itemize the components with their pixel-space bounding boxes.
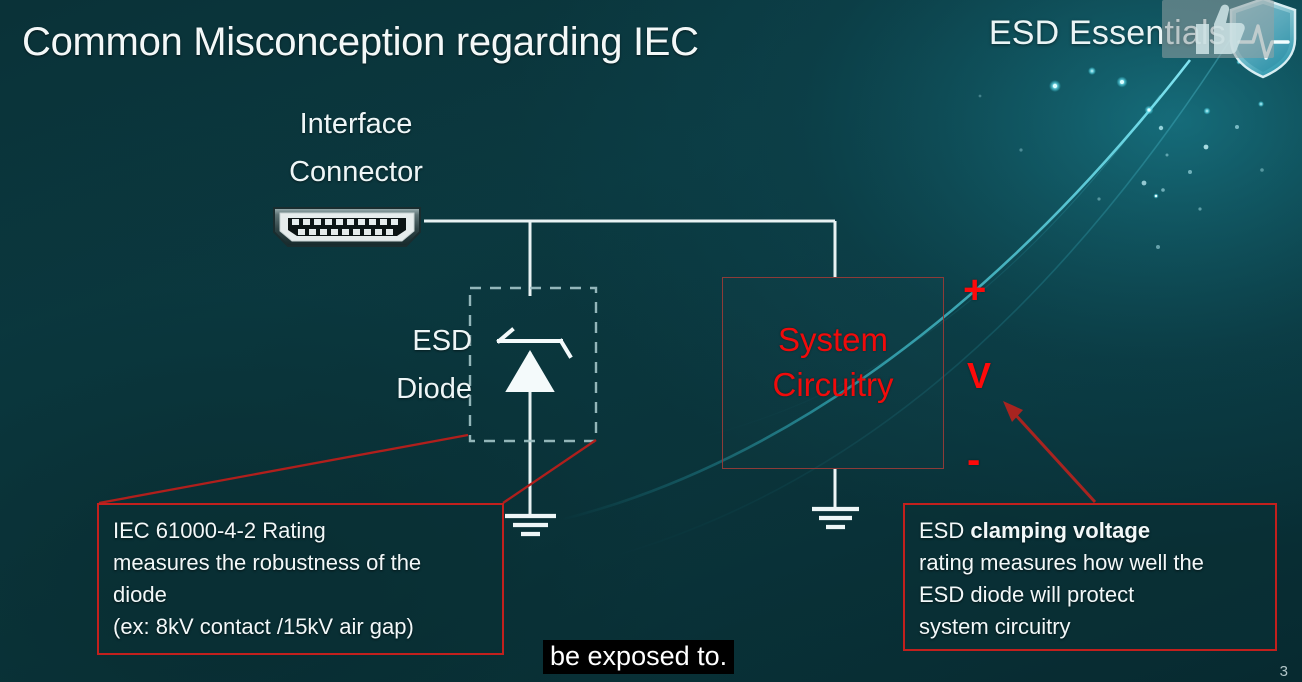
polarity-plus: + [963, 268, 986, 313]
callout-left-line3: diode [113, 579, 488, 611]
ground-icon-right [812, 469, 859, 527]
thumbs-up-icon [1190, 2, 1246, 56]
thumbs-up-overlay[interactable] [1162, 0, 1274, 58]
page-number: 3 [1280, 663, 1288, 680]
callout-left-line1: IEC 61000-4-2 Rating [113, 515, 488, 547]
interface-label: Interface [246, 110, 466, 139]
slide-title: Common Misconception regarding IEC [22, 20, 699, 65]
esd-diode-dashed-box [470, 288, 596, 441]
system-circuitry-block: System Circuitry [722, 277, 944, 469]
system-circuitry-line1: System [723, 318, 943, 363]
esd-label: ESD [352, 327, 472, 356]
hdmi-connector-icon [268, 204, 426, 250]
callout-right-line1-prefix: ESD [919, 518, 970, 543]
callout-right-line2: rating measures how well the [919, 547, 1261, 579]
callout-iec-rating: IEC 61000-4-2 Rating measures the robust… [97, 503, 504, 655]
system-circuitry-line2: Circuitry [723, 363, 943, 408]
ground-icon-left [505, 516, 556, 534]
polarity-minus: - [967, 438, 980, 483]
callout-right-line4: system circuitry [919, 611, 1261, 643]
callout-clamping-voltage: ESD clamping voltage rating measures how… [903, 503, 1277, 651]
callout-right-line1: ESD clamping voltage [919, 515, 1261, 547]
callout-right-line3: ESD diode will protect [919, 579, 1261, 611]
callout-left-line2: measures the robustness of the [113, 547, 488, 579]
callout-left-leaders [99, 435, 596, 503]
callout-left-line4: (ex: 8kV contact /15kV air gap) [113, 611, 488, 643]
diode-label: Diode [332, 375, 472, 404]
slide-canvas: Common Misconception regarding IEC ESD E… [0, 0, 1302, 682]
polarity-voltage: V [967, 355, 991, 397]
closed-caption: be exposed to. [543, 640, 734, 674]
tvs-zener-diode-icon [499, 330, 570, 391]
callout-right-arrow [1003, 401, 1095, 502]
callout-right-line1-bold: clamping voltage [970, 518, 1150, 543]
connector-label: Connector [246, 158, 466, 187]
